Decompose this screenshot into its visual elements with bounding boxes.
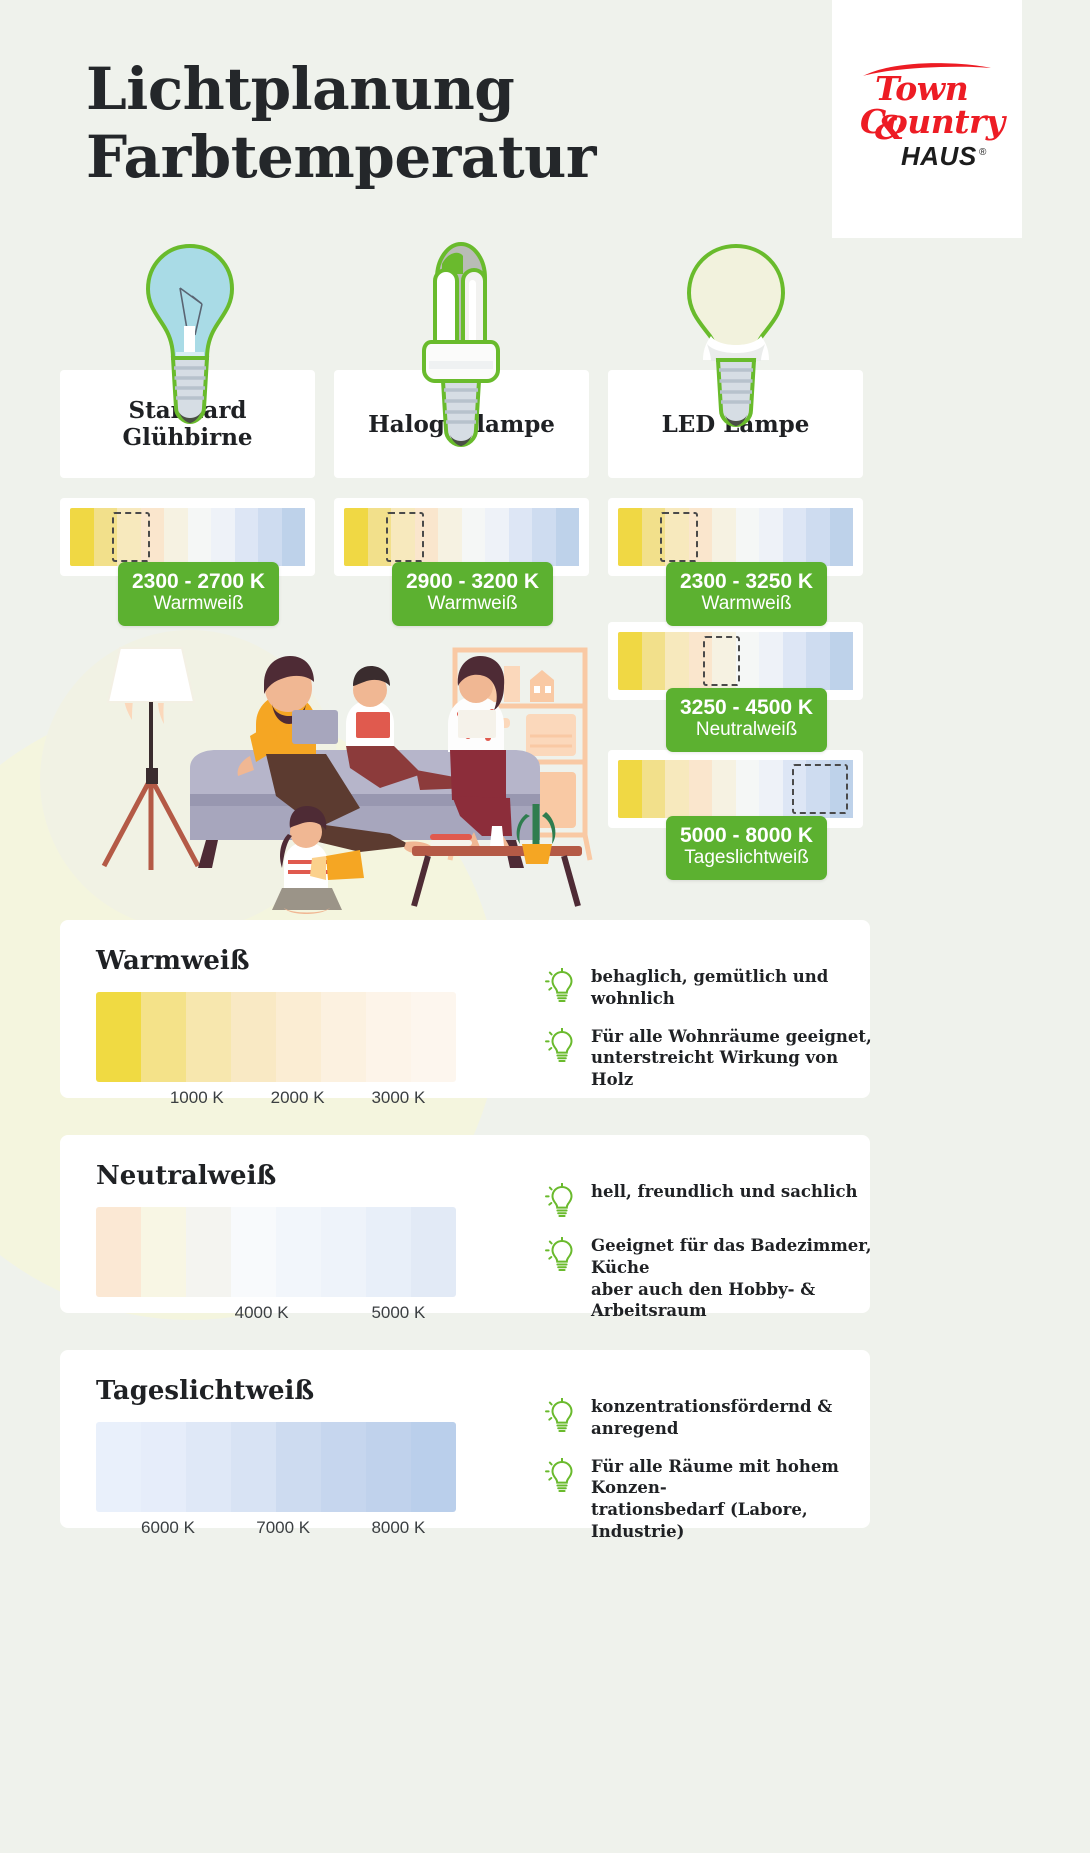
brand-logo: Town & Country HAUS ®	[832, 0, 1022, 238]
gradient-segment	[231, 1207, 276, 1297]
idea-bulb-icon	[545, 1237, 579, 1273]
tageslichtweiss-gradient-strip	[96, 1422, 456, 1512]
kelvin-range-label: Warmweiß	[680, 593, 813, 616]
family-reading-illustration	[60, 628, 680, 918]
kelvin-range-label: Warmweiß	[132, 593, 265, 616]
kelvin-strip-segment	[211, 508, 235, 566]
kelvin-range-label: Warmweiß	[406, 593, 539, 616]
led-bulb-icon	[683, 240, 789, 470]
kelvin-strip-segment	[509, 508, 533, 566]
kelvin-strip-segment	[689, 760, 713, 818]
lamp-screw-base	[443, 381, 479, 446]
bullet-text: Für alle Räume mit hohem Konzen- tration…	[591, 1456, 885, 1543]
kelvin-strip-segment	[235, 508, 259, 566]
kelvin-badge-led-neutral[interactable]: 3250 - 4500 K Neutralweiß	[666, 688, 827, 752]
axis-tick-label: 8000 K	[371, 1518, 425, 1538]
axis-tick-label: 4000 K	[235, 1303, 289, 1323]
kelvin-strip-segment	[759, 508, 783, 566]
gradient-segment	[186, 1422, 231, 1512]
panel-title: Neutralweiß	[96, 1161, 276, 1191]
idea-bulb-icon	[545, 1398, 579, 1434]
bullet-item: Geeignet für das Badezimmer, Küche aber …	[545, 1235, 885, 1322]
idea-bulb-icon	[545, 1028, 579, 1064]
gradient-segment	[186, 1207, 231, 1297]
kelvin-strip-segment	[188, 508, 212, 566]
gradient-segment	[96, 1207, 141, 1297]
bullet-item: Für alle Räume mit hohem Konzen- tration…	[545, 1456, 885, 1543]
warmweiss-gradient-strip	[96, 992, 456, 1082]
gradient-segment	[321, 992, 366, 1082]
tageslichtweiss-axis-ticks: 6000 K7000 K8000 K	[96, 1518, 456, 1544]
bullet-item: hell, freundlich und sachlich	[545, 1181, 885, 1219]
kelvin-strip-segment	[642, 760, 666, 818]
kelvin-selection-box	[112, 512, 150, 562]
kelvin-gradient-strip	[70, 508, 305, 566]
neutralweiss-axis-ticks: 4000 K5000 K	[96, 1303, 456, 1329]
tageslichtweiss-bullet-list: konzentrationsfördernd & anregendFür all…	[545, 1396, 885, 1559]
bullet-text: hell, freundlich und sachlich	[591, 1181, 858, 1203]
kelvin-range-value: 2300 - 3250 K	[680, 570, 813, 593]
kelvin-strip-segment	[806, 632, 830, 690]
gradient-segment	[366, 992, 411, 1082]
idea-bulb-icon	[545, 1028, 579, 1064]
idea-bulb-icon	[545, 1183, 579, 1219]
kelvin-strip-segment	[438, 508, 462, 566]
kelvin-badge-halogen-warm[interactable]: 2900 - 3200 K Warmweiß	[392, 562, 553, 626]
idea-bulb-icon	[545, 1183, 579, 1219]
kelvin-strip-segment	[806, 508, 830, 566]
idea-bulb-icon	[545, 1237, 579, 1273]
kelvin-range-label: Neutralweiß	[680, 719, 813, 742]
bullet-text: Geeignet für das Badezimmer, Küche aber …	[591, 1235, 885, 1322]
kelvin-gradient-strip	[344, 508, 579, 566]
kelvin-range-label: Tageslichtweiß	[680, 847, 813, 870]
kelvin-strip-segment	[485, 508, 509, 566]
axis-tick-label: 6000 K	[141, 1518, 195, 1538]
axis-tick-label: 1000 K	[170, 1088, 224, 1108]
gradient-segment	[96, 1422, 141, 1512]
idea-bulb-icon	[545, 1458, 579, 1494]
kelvin-strip-segment	[712, 760, 736, 818]
kelvin-strip-segment	[164, 508, 188, 566]
kelvin-strip-segment	[642, 632, 666, 690]
gradient-segment	[276, 1207, 321, 1297]
kelvin-strip-segment	[532, 508, 556, 566]
kelvin-strip-segment	[830, 508, 854, 566]
kelvin-strip-segment	[665, 760, 689, 818]
gradient-segment	[366, 1422, 411, 1512]
gradient-segment	[411, 992, 456, 1082]
kelvin-strip-segment	[70, 508, 94, 566]
kelvin-range-value: 3250 - 4500 K	[680, 696, 813, 719]
logo-line-haus: HAUS	[901, 141, 977, 172]
kelvin-gradient-strip	[618, 632, 853, 690]
gradient-segment	[96, 992, 141, 1082]
bullet-item: konzentrationsfördernd & anregend	[545, 1396, 885, 1440]
kelvin-strip-segment	[258, 508, 282, 566]
panel-title: Warmweiß	[96, 946, 250, 976]
idea-bulb-icon	[545, 1458, 579, 1494]
kelvin-range-value: 2300 - 2700 K	[132, 570, 265, 593]
idea-bulb-icon	[545, 968, 579, 1004]
gradient-segment	[231, 1422, 276, 1512]
axis-tick-label: 3000 K	[371, 1088, 425, 1108]
kelvin-strip-segment	[462, 508, 486, 566]
gradient-segment	[186, 992, 231, 1082]
idea-bulb-icon	[545, 1398, 579, 1434]
bullet-text: konzentrationsfördernd & anregend	[591, 1396, 885, 1440]
axis-tick-label: 7000 K	[256, 1518, 310, 1538]
kelvin-strip-segment	[712, 508, 736, 566]
gradient-segment	[141, 992, 186, 1082]
kelvin-badge-incandescent-warm[interactable]: 2300 - 2700 K Warmweiß	[118, 562, 279, 626]
kelvin-strip-segment	[618, 760, 642, 818]
led-screw-base	[718, 360, 754, 426]
kelvin-range-value: 2900 - 3200 K	[406, 570, 539, 593]
bulb-screw-base	[173, 358, 207, 423]
page-title: Lichtplanung Farbtemperatur	[86, 55, 596, 192]
kelvin-range-value: 5000 - 8000 K	[680, 824, 813, 847]
kelvin-badge-led-daylight[interactable]: 5000 - 8000 K Tageslichtweiß	[666, 816, 827, 880]
kelvin-gradient-strip	[618, 760, 853, 818]
kelvin-strip-segment	[618, 632, 642, 690]
detail-panel-neutralweiss: Neutralweiß 4000 K5000 K hell, freundlic…	[60, 1135, 870, 1313]
neutralweiss-gradient-strip	[96, 1207, 456, 1297]
kelvin-selection-box	[792, 764, 848, 814]
kelvin-strip-segment	[618, 508, 642, 566]
panel-title: Tageslichtweiß	[96, 1376, 314, 1406]
kelvin-selection-box	[703, 636, 741, 686]
kelvin-strip-segment	[556, 508, 580, 566]
gradient-segment	[231, 992, 276, 1082]
gradient-segment	[276, 1422, 321, 1512]
kelvin-strip-segment	[759, 760, 783, 818]
logo-line-country: Country	[860, 102, 1005, 141]
gradient-segment	[276, 992, 321, 1082]
kelvin-strip-segment	[783, 508, 807, 566]
kelvin-strip-segment	[665, 632, 689, 690]
kelvin-strip-segment	[736, 760, 760, 818]
kelvin-strip-segment	[759, 632, 783, 690]
kelvin-strip-segment	[783, 632, 807, 690]
logo-registered-mark: ®	[979, 147, 986, 158]
warmweiss-bullet-list: behaglich, gemütlich und wohnlichFür all…	[545, 966, 885, 1107]
floor-lamp-illustration	[104, 648, 198, 870]
gradient-segment	[411, 1422, 456, 1512]
gradient-segment	[141, 1207, 186, 1297]
detail-panel-tageslichtweiss: Tageslichtweiß 6000 K7000 K8000 K konzen…	[60, 1350, 870, 1528]
gradient-segment	[411, 1207, 456, 1297]
halogen-cfl-lamp-icon	[415, 230, 507, 470]
kelvin-strip-segment	[736, 508, 760, 566]
kelvin-strip-segment	[830, 632, 854, 690]
kelvin-selection-box	[660, 512, 698, 562]
kelvin-selection-box	[386, 512, 424, 562]
kelvin-strip-segment	[282, 508, 306, 566]
bullet-item: Für alle Wohnräume geeignet, unterstreic…	[545, 1026, 885, 1091]
bullet-text: behaglich, gemütlich und wohnlich	[591, 966, 885, 1010]
gradient-segment	[321, 1422, 366, 1512]
kelvin-strip-segment	[344, 508, 368, 566]
bullet-text: Für alle Wohnräume geeignet, unterstreic…	[591, 1026, 885, 1091]
incandescent-bulb-icon	[140, 240, 240, 470]
axis-tick-label: 2000 K	[271, 1088, 325, 1108]
warmweiss-axis-ticks: 1000 K2000 K3000 K	[96, 1088, 456, 1114]
detail-panel-warmweiss: Warmweiß 1000 K2000 K3000 K behaglich, g…	[60, 920, 870, 1098]
bullet-item: behaglich, gemütlich und wohnlich	[545, 966, 885, 1010]
gradient-segment	[141, 1422, 186, 1512]
gradient-segment	[321, 1207, 366, 1297]
neutralweiss-bullet-list: hell, freundlich und sachlichGeeignet fü…	[545, 1181, 885, 1338]
idea-bulb-icon	[545, 968, 579, 1004]
gradient-segment	[366, 1207, 411, 1297]
kelvin-gradient-strip	[618, 508, 853, 566]
axis-tick-label: 5000 K	[371, 1303, 425, 1323]
kelvin-badge-led-warm[interactable]: 2300 - 3250 K Warmweiß	[666, 562, 827, 626]
